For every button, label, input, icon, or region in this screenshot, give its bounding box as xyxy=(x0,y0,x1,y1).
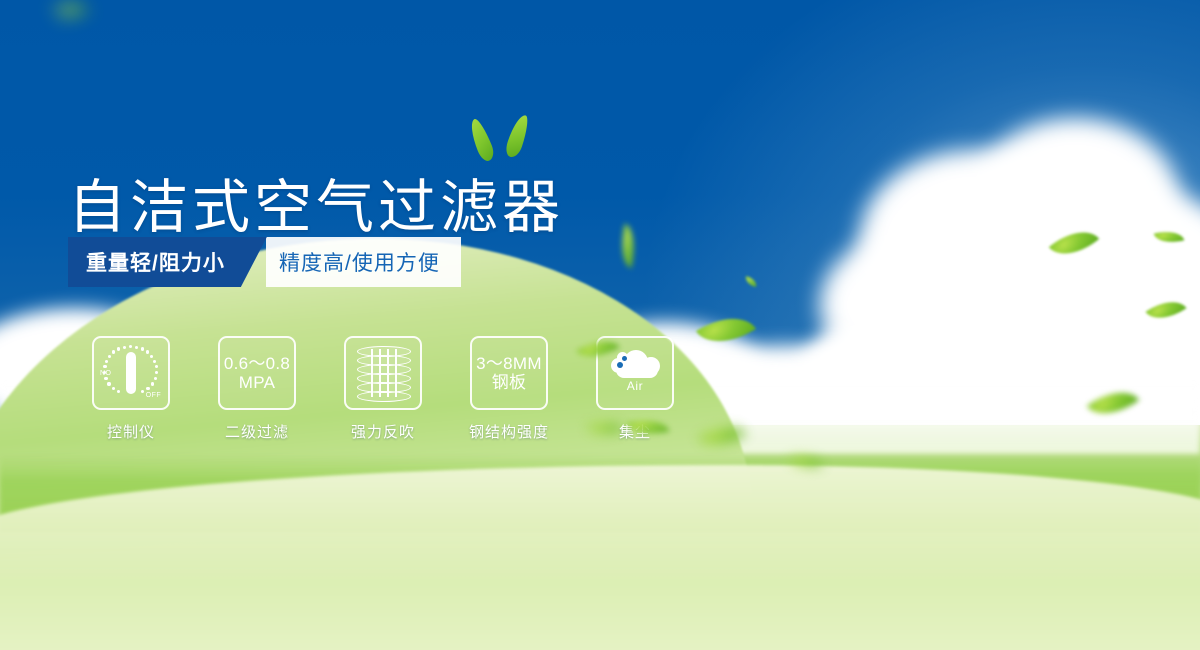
feature-label: 钢结构强度 xyxy=(469,421,549,442)
subtitle-segment-left: 重量轻/阻力小 xyxy=(68,237,241,287)
product-banner: 自洁式空气过滤器 重量轻/阻力小 精度高/使用方便 xyxy=(0,0,1200,650)
feature-icon-box xyxy=(344,336,422,410)
page-title: 自洁式空气过滤器 xyxy=(68,179,564,237)
pressure-value: 0.6～0.8 xyxy=(224,354,290,373)
field-foreground xyxy=(0,465,1200,650)
subtitle-bar: 重量轻/阻力小 精度高/使用方便 xyxy=(68,237,461,287)
subtitle-slant-divider xyxy=(241,237,267,287)
dial-label-off: OFF xyxy=(146,392,161,399)
dial-icon: NO OFF xyxy=(100,344,162,402)
pressure-unit: MPA xyxy=(239,373,275,392)
sprout-leaves-icon xyxy=(466,108,542,170)
feature-icon-box: 3～8MM 钢板 xyxy=(470,336,548,410)
steel-material: 钢板 xyxy=(492,373,527,392)
feature-label: 二级过滤 xyxy=(225,421,289,442)
feature-item-strong-backflush[interactable]: 强力反吹 xyxy=(320,336,446,442)
subtitle-segment-right: 精度高/使用方便 xyxy=(266,237,461,287)
feature-icon-box: 0.6～0.8 MPA xyxy=(218,336,296,410)
air-cloud-icon: Air xyxy=(606,348,664,398)
steel-thickness: 3～8MM xyxy=(476,354,542,373)
dial-label-no: NO xyxy=(100,370,111,377)
feature-item-two-stage-filtration[interactable]: 0.6～0.8 MPA 二级过滤 xyxy=(194,336,320,442)
feature-item-control-instrument[interactable]: NO OFF 控制仪 xyxy=(68,336,194,442)
feature-label: 强力反吹 xyxy=(351,421,415,442)
air-label: Air xyxy=(627,380,643,392)
filter-coil-icon xyxy=(357,346,409,400)
feature-item-steel-structure-strength[interactable]: 3～8MM 钢板 钢结构强度 xyxy=(446,336,572,442)
feature-label: 控制仪 xyxy=(107,421,155,442)
feature-icon-box: NO OFF xyxy=(92,336,170,410)
